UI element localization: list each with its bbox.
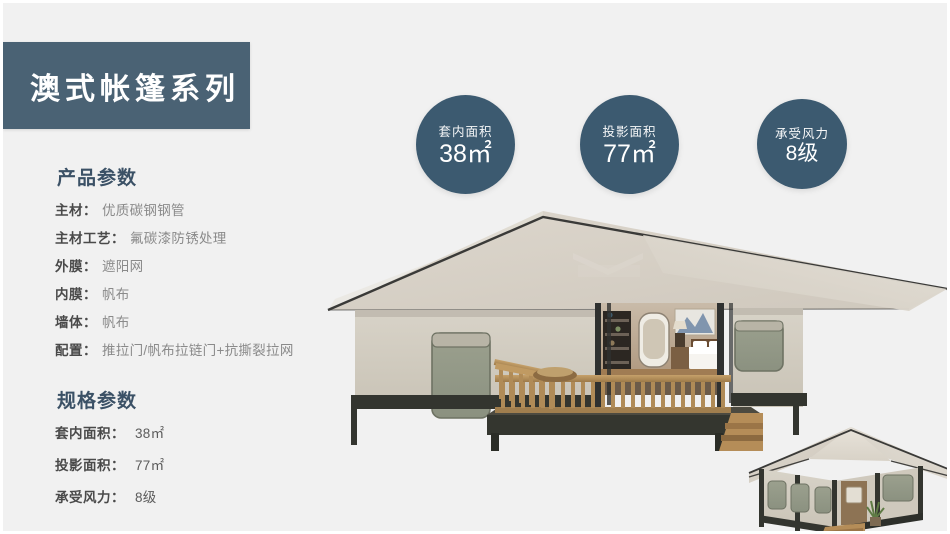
spec-value: 优质碳钢钢管 xyxy=(102,200,185,222)
product-parameters-group: 产品参数 主材： 优质碳钢钢管 主材工艺： 氟碳漆防锈处理 外膜： 遮阳网 内膜… xyxy=(55,163,385,362)
badge-interior-area: 套内面积 38㎡ xyxy=(416,95,515,194)
spec-label: 内膜： xyxy=(55,284,97,306)
spec-value: 遮阳网 xyxy=(102,256,143,278)
spec-label: 主材工艺： xyxy=(55,228,125,250)
badge-label: 承受风力 xyxy=(775,123,829,142)
spec-label: 配置： xyxy=(55,340,97,362)
specification-parameters-heading: 规格参数 xyxy=(57,386,385,413)
spec-label: 承受风力： xyxy=(55,487,125,509)
watermark xyxy=(573,253,643,277)
spec-row: 承受风力： 8级 xyxy=(55,487,385,509)
spec-row: 内膜： 帆布 xyxy=(55,284,385,306)
spec-value: 38㎡ xyxy=(135,423,164,445)
specification-parameters-group: 规格参数 套内面积： 38㎡ 投影面积： 77㎡ 承受风力： 8级 xyxy=(55,386,385,509)
spec-row: 主材工艺： 氟碳漆防锈处理 xyxy=(55,228,385,250)
spec-value: 推拉门/帆布拉链门+抗撕裂拉网 xyxy=(102,340,294,362)
plant-icon xyxy=(867,501,884,526)
main-tent-render xyxy=(328,211,947,451)
spec-row: 投影面积： 77㎡ xyxy=(55,455,385,477)
spec-label: 投影面积： xyxy=(55,455,125,477)
badge-value: 8级 xyxy=(786,143,819,165)
page-title: 澳式帐篷系列 xyxy=(3,64,240,108)
spec-value: 帆布 xyxy=(102,284,130,306)
tent-thumbnail-render xyxy=(749,427,950,534)
specifications-panel: 产品参数 主材： 优质碳钢钢管 主材工艺： 氟碳漆防锈处理 外膜： 遮阳网 内膜… xyxy=(55,163,385,519)
spec-label: 外膜： xyxy=(55,256,97,278)
spec-label: 主材： xyxy=(55,200,97,222)
spec-value: 帆布 xyxy=(102,312,130,334)
badge-value: 38㎡ xyxy=(439,141,492,167)
series-title-banner: 澳式帐篷系列 xyxy=(3,42,250,129)
spec-row: 主材： 优质碳钢钢管 xyxy=(55,200,385,222)
product-parameters-heading: 产品参数 xyxy=(57,163,385,190)
spec-row: 墙体： 帆布 xyxy=(55,312,385,334)
badge-label: 投影面积 xyxy=(602,121,656,140)
spec-row: 配置： 推拉门/帆布拉链门+抗撕裂拉网 xyxy=(55,340,385,362)
spec-label: 套内面积： xyxy=(55,423,125,445)
deck-railing xyxy=(494,359,731,413)
spec-row: 外膜： 遮阳网 xyxy=(55,256,385,278)
slide-root: 澳式帐篷系列 产品参数 主材： 优质碳钢钢管 主材工艺： 氟碳漆防锈处理 外膜：… xyxy=(0,0,950,534)
spec-value: 氟碳漆防锈处理 xyxy=(130,228,227,250)
badge-projected-area: 投影面积 77㎡ xyxy=(580,95,679,194)
badge-wind-resistance: 承受风力 8级 xyxy=(757,99,847,189)
badge-value: 77㎡ xyxy=(603,141,656,167)
spec-value: 8级 xyxy=(135,487,157,509)
spec-label: 墙体： xyxy=(55,312,97,334)
spec-row: 套内面积： 38㎡ xyxy=(55,423,385,445)
badge-label: 套内面积 xyxy=(438,121,492,140)
spec-value: 77㎡ xyxy=(135,455,164,477)
